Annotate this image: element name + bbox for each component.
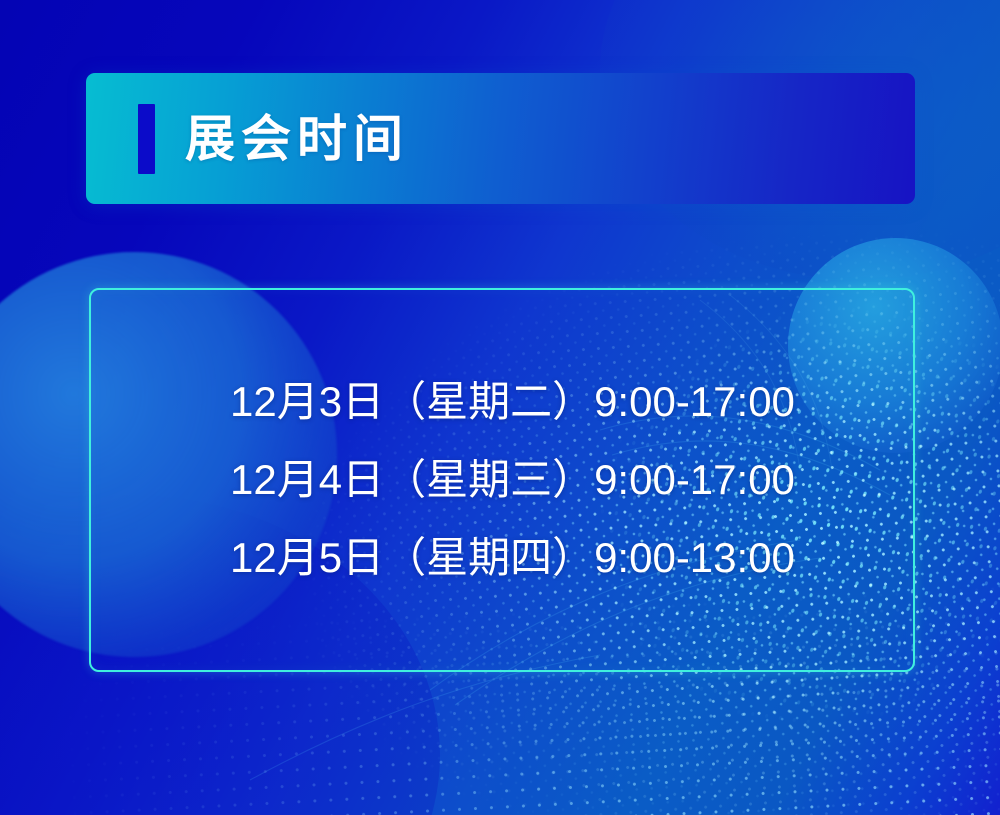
schedule-line: 12月3日（星期二）9:00-17:00 <box>230 381 913 423</box>
page-title: 展会时间 <box>185 114 409 164</box>
schedule-line: 12月5日（星期四）9:00-13:00 <box>230 537 913 579</box>
header-banner: 展会时间 <box>86 73 915 204</box>
schedule-line: 12月4日（星期三）9:00-17:00 <box>230 459 913 501</box>
poster-canvas: 展会时间 12月3日（星期二）9:00-17:00 12月4日（星期三）9:00… <box>0 0 1000 815</box>
header-accent-bar <box>138 104 155 174</box>
schedule-frame: 12月3日（星期二）9:00-17:00 12月4日（星期三）9:00-17:0… <box>89 288 915 672</box>
